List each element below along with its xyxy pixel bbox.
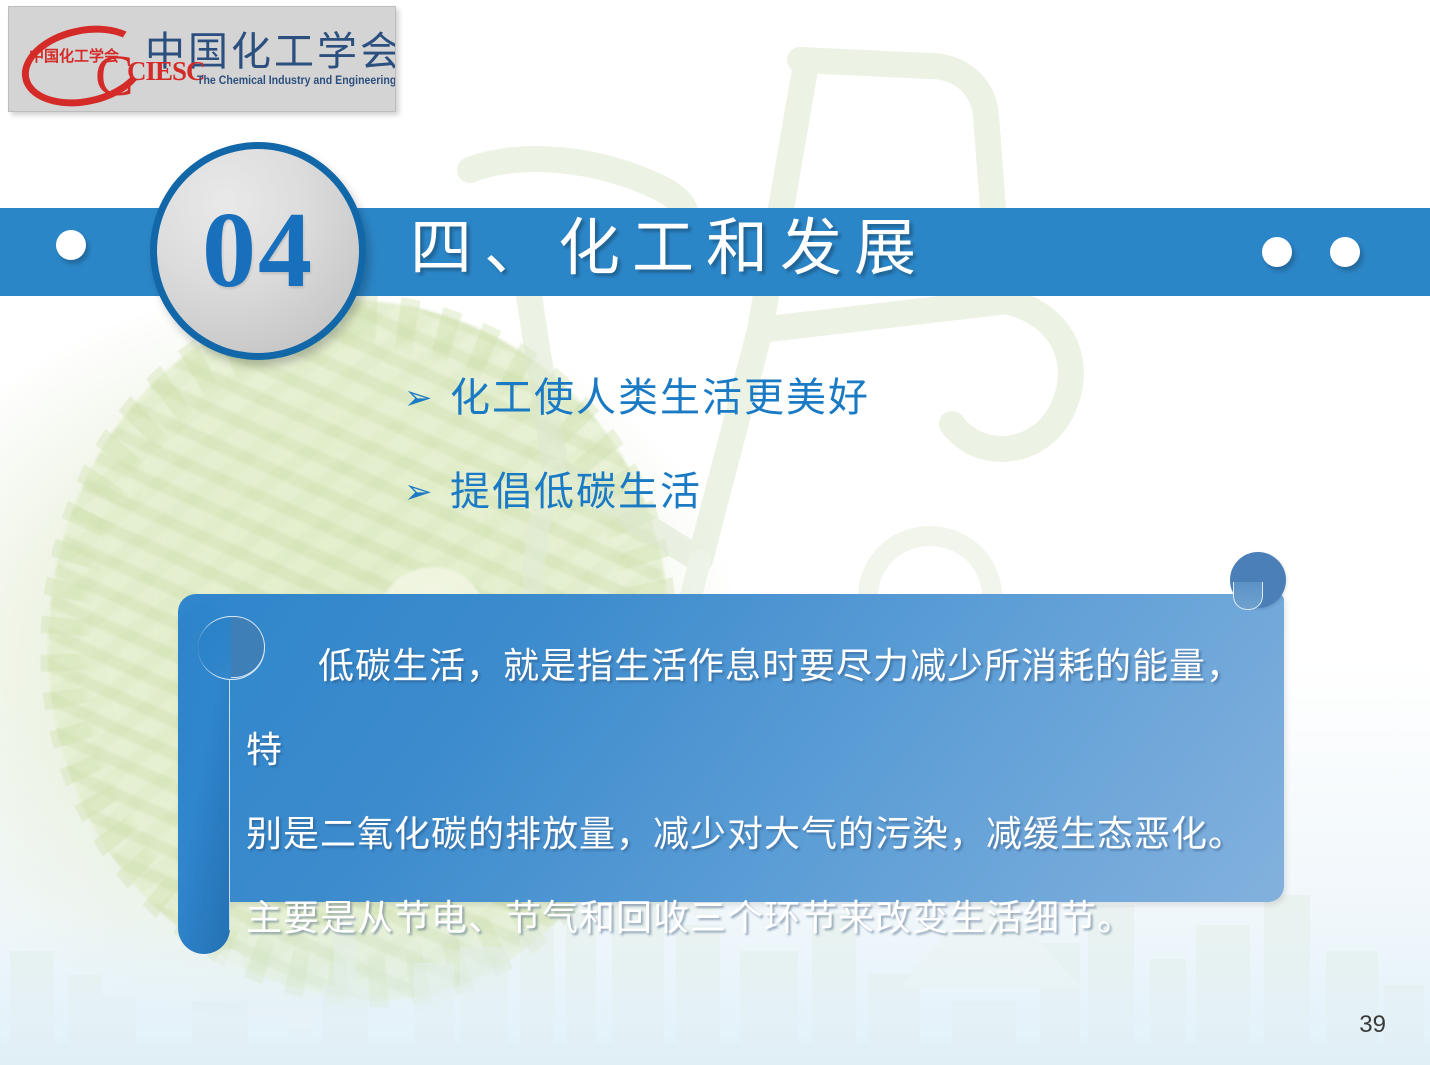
logo-seal-icon: 中国化工学会 C CIESC [17, 17, 141, 101]
section-number: 04 [202, 197, 314, 305]
bullet-list: ➢ 化工使人类生活更美好 ➢ 提倡低碳生活 [404, 372, 1164, 560]
bullet-item-1: ➢ 化工使人类生活更美好 [404, 372, 1164, 424]
banner-dot-right-2 [1330, 237, 1360, 267]
content-line-3: 主要是从节电、节气和回收三个环节来改变生活细节。 [246, 876, 1256, 960]
section-number-badge: 04 [150, 142, 366, 360]
page-number: 39 [1359, 1011, 1386, 1039]
slide-canvas: 中国化工学会 C CIESC 中国化工学会 The Chemical Indus… [0, 0, 1430, 1065]
content-line-2: 别是二氧化碳的排放量，减少对大气的污染，减缓生态恶化。 [246, 792, 1256, 876]
arrow-bullet-icon: ➢ [404, 372, 450, 424]
banner-dot-right-1 [1262, 237, 1292, 267]
bullet-item-2: ➢ 提倡低碳生活 [404, 466, 1164, 518]
content-box-text: 低碳生活，就是指生活作息时要尽力减少所消耗的能量，特 别是二氧化碳的排放量，减少… [246, 624, 1256, 960]
section-title: 四、化工和发展 [410, 218, 928, 280]
content-line-1: 低碳生活，就是指生活作息时要尽力减少所消耗的能量，特 [246, 624, 1256, 792]
content-scroll-box: 低碳生活，就是指生活作息时要尽力减少所消耗的能量，特 别是二氧化碳的排放量，减少… [178, 594, 1284, 902]
logo-abbr: CIESC [127, 56, 205, 87]
arrow-bullet-icon: ➢ [404, 466, 450, 518]
banner-dot-left [56, 230, 86, 260]
bullet-item-2-label: 提倡低碳生活 [450, 466, 702, 518]
bullet-item-1-label: 化工使人类生活更美好 [450, 372, 870, 424]
scroll-curl-top-right-notch-icon [1233, 582, 1263, 610]
society-logo: 中国化工学会 C CIESC 中国化工学会 The Chemical Indus… [8, 6, 396, 112]
logo-name-en: The Chemical Industry and Engineering So… [197, 75, 396, 87]
